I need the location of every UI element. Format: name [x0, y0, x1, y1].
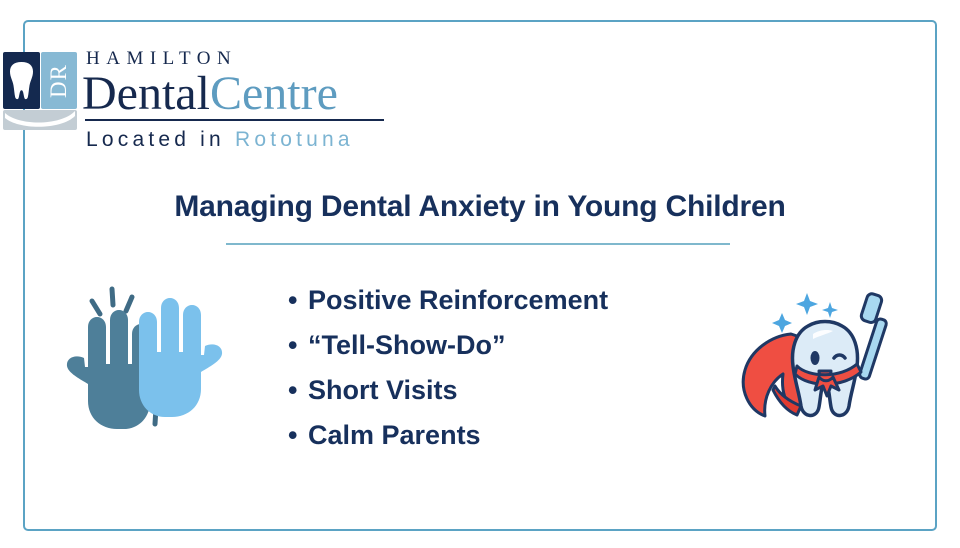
- bullet-icon: •: [288, 287, 308, 314]
- bullet-icon: •: [288, 332, 308, 359]
- list-item-label: Short Visits: [308, 375, 458, 406]
- page-title: Managing Dental Anxiety in Young Childre…: [0, 190, 960, 224]
- swoosh-icon: [3, 110, 77, 130]
- logo-dr-text: DR: [46, 64, 72, 98]
- logo-word-centre: Centre: [210, 67, 338, 120]
- logo-tooth-tile: [3, 52, 40, 109]
- superhero-tooth-icon: [735, 278, 915, 440]
- key-points-list: • Positive Reinforcement • “Tell-Show-Do…: [288, 285, 608, 465]
- bullet-icon: •: [288, 377, 308, 404]
- brand-logo: DR HAMILTON DentalCentre Located in Roto…: [0, 48, 400, 173]
- logo-tagline: Located in Rototuna: [86, 128, 397, 152]
- toothbrush-icon: [859, 293, 888, 381]
- spark-lines-top: [92, 289, 132, 314]
- logo-word-dental: Dental: [82, 67, 210, 120]
- list-item-label: “Tell-Show-Do”: [308, 330, 505, 361]
- logo-tagline-place: Rototuna: [235, 128, 354, 151]
- logo-tagline-prefix: Located in: [86, 128, 225, 151]
- high-five-hands-icon: [60, 272, 230, 437]
- list-item-label: Calm Parents: [308, 420, 481, 451]
- logo-mark: DR: [3, 52, 77, 130]
- list-item: • Positive Reinforcement: [288, 285, 608, 330]
- dark-hand: [67, 310, 150, 429]
- logo-wordmark: HAMILTON DentalCentre Located in Rototun…: [82, 48, 397, 152]
- logo-dr-tile: DR: [41, 52, 77, 109]
- list-item: • Short Visits: [288, 375, 608, 420]
- left-eye-icon: [811, 351, 820, 365]
- list-item-label: Positive Reinforcement: [308, 285, 608, 316]
- logo-name-row: DentalCentre: [82, 68, 397, 120]
- bullet-icon: •: [288, 422, 308, 449]
- list-item: • “Tell-Show-Do”: [288, 330, 608, 375]
- title-divider: [226, 243, 730, 245]
- light-hand: [139, 298, 222, 417]
- tooth-icon: [3, 52, 40, 109]
- logo-swoosh-band: [3, 110, 77, 130]
- list-item: • Calm Parents: [288, 420, 608, 465]
